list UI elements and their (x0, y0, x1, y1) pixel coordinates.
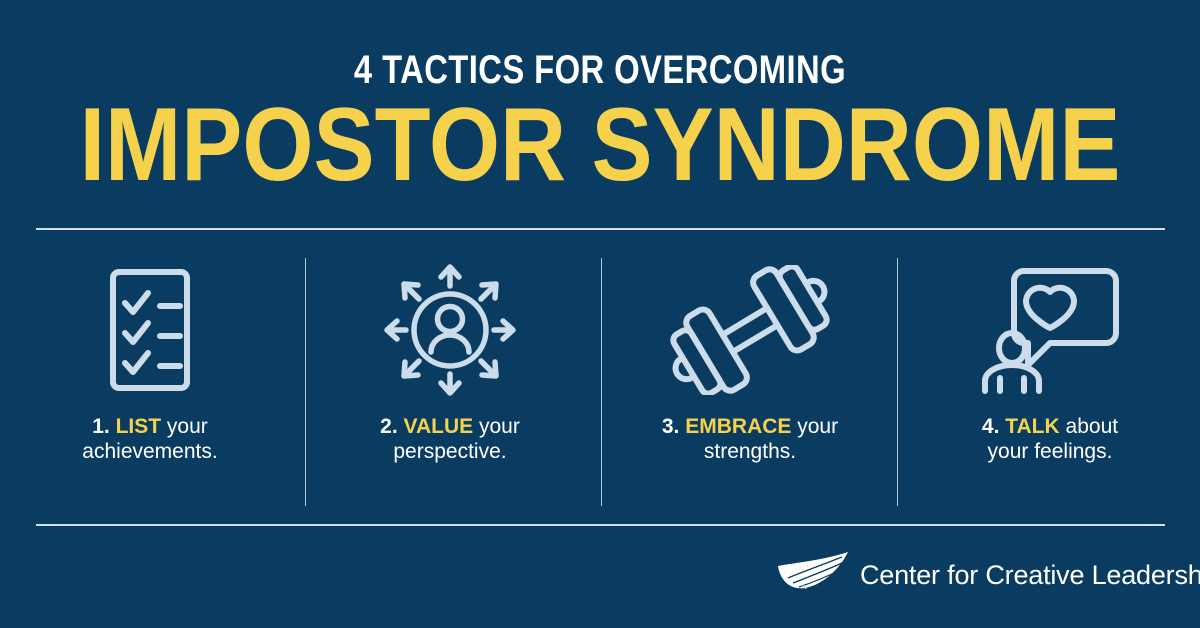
tactics-row: 1. LIST your achievements. (0, 250, 1200, 520)
tactic-line2-1: achievements. (82, 440, 217, 463)
brand-name: Center for Creative Leadership® (860, 555, 1200, 590)
tactic-caption-2: 2. VALUE your perspective. (380, 414, 520, 464)
person-heart-speech-bubble-icon (980, 250, 1120, 410)
tactic-line2-3: strengths. (704, 440, 796, 463)
tactic-keyword-3: EMBRACE (685, 415, 791, 438)
tactic-item-2: 2. VALUE your perspective. (300, 250, 600, 520)
tactic-keyword-1: LIST (116, 415, 162, 438)
divider-bottom (36, 524, 1165, 526)
brand-logo: TM Center for Creative Leadership® (776, 548, 1168, 596)
tactic-number-4: 4. (982, 415, 1000, 438)
eyebrow-heading: 4 TACTICS FOR OVERCOMING (108, 50, 1092, 90)
checklist-icon (96, 250, 204, 410)
tactic-caption-1: 1. LIST your achievements. (82, 414, 217, 464)
tactic-number-2: 2. (380, 415, 398, 438)
tactic-item-4: 4. TALK about your feelings. (900, 250, 1200, 520)
infographic-poster: 4 TACTICS FOR OVERCOMING IMPOSTOR SYNDRO… (0, 0, 1200, 628)
tactic-number-3: 3. (662, 415, 680, 438)
tactic-rest-2: your (479, 415, 520, 438)
tactic-line2-4: your feelings. (988, 440, 1113, 463)
tactic-number-1: 1. (92, 415, 110, 438)
tactic-caption-4: 4. TALK about your feelings. (982, 414, 1118, 464)
dumbbell-icon (660, 250, 840, 410)
page-title: IMPOSTOR SYNDROME (72, 93, 1128, 197)
tactic-keyword-2: VALUE (404, 415, 474, 438)
tactic-rest-4: about (1066, 415, 1119, 438)
divider-top (36, 228, 1165, 230)
brand-name-text: Center for Creative Leadership (860, 560, 1200, 590)
trademark-mark: TM (800, 586, 808, 591)
tactic-rest-3: your (797, 415, 838, 438)
tactic-item-1: 1. LIST your achievements. (0, 250, 300, 520)
tactic-keyword-4: TALK (1005, 415, 1059, 438)
tactic-rest-1: your (167, 415, 208, 438)
tactic-item-3: 3. EMBRACE your strengths. (600, 250, 900, 520)
tactic-caption-3: 3. EMBRACE your strengths. (662, 414, 838, 464)
tactic-line2-2: perspective. (393, 440, 506, 463)
person-expand-arrows-icon (380, 250, 520, 410)
swoosh-wing-icon: TM (776, 550, 854, 594)
